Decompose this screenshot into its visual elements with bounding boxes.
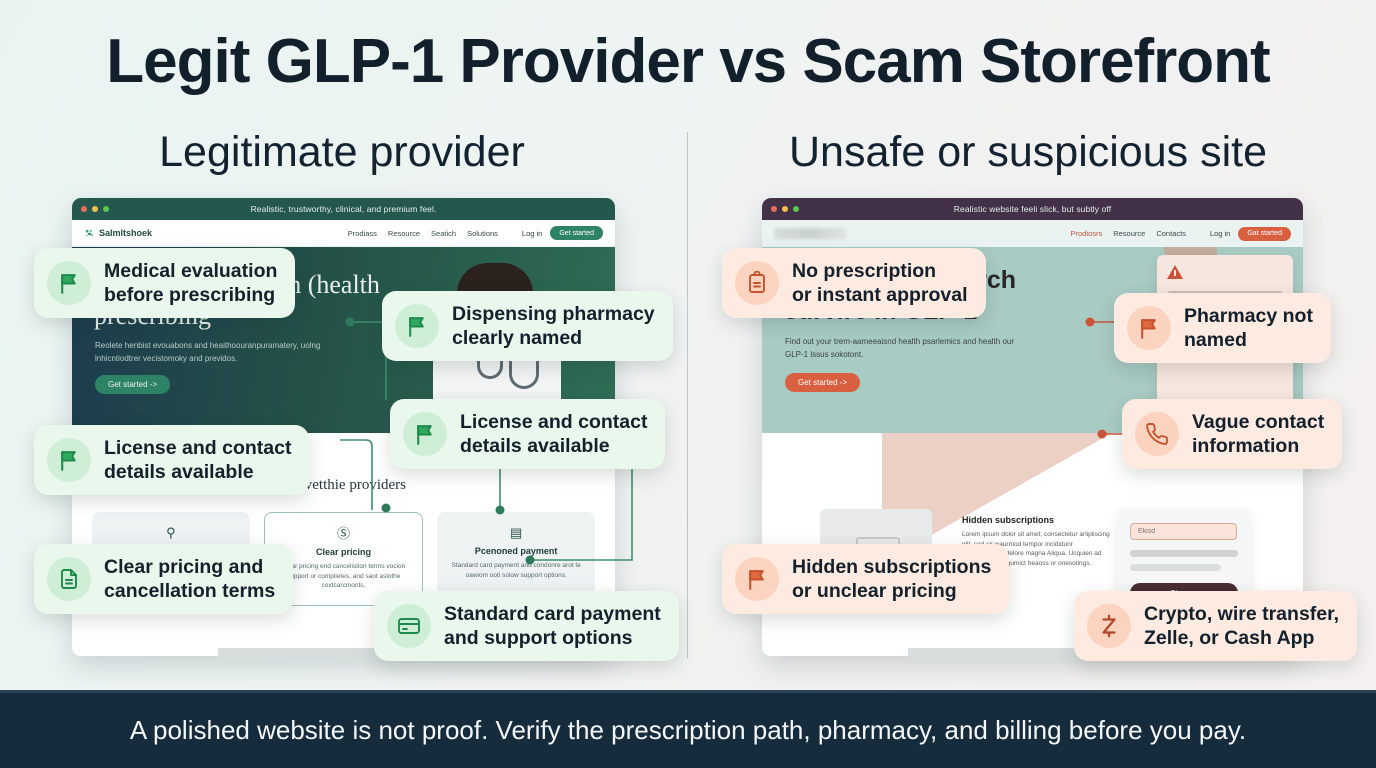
user-check-icon: ⚲ [102, 524, 240, 542]
nav-item-1[interactable]: Resource [1113, 229, 1145, 238]
browser-titlebar-left: Realistic, trustworthy, clinical, and pr… [72, 198, 615, 220]
green-flag-icon [403, 412, 447, 456]
brand-name-left: Salmltshoek [99, 228, 152, 238]
maximize-dot-icon[interactable] [793, 206, 799, 212]
callout-chip-license-contact-b[interactable]: License and contact details available [34, 425, 309, 495]
callout-chip-pharmacy-not-named[interactable]: Pharmacy not named [1114, 293, 1331, 363]
close-dot-icon[interactable] [771, 206, 777, 212]
feature-card-title: Clear pricing [275, 547, 413, 557]
crypto-z-icon [1087, 604, 1131, 648]
leaf-logo-icon [84, 228, 95, 239]
callout-label: Medical evaluation before prescribing [104, 259, 277, 307]
callout-label: Crypto, wire transfer, Zelle, or Cash Ap… [1144, 602, 1339, 650]
callout-chip-vague-contact[interactable]: Vague contact information [1122, 399, 1342, 469]
site-nav-left: Salmltshoek Prodiass Resource Seatich So… [72, 220, 615, 247]
callout-chip-dispensing-pharmacy[interactable]: Dispensing pharmacy clearly named [382, 291, 673, 361]
red-flag-icon [1127, 306, 1171, 350]
callout-label: Hidden subscriptions or unclear pricing [792, 555, 991, 603]
feature-card-body: Standard card payment and condonre arot … [447, 561, 585, 580]
nav-item-3[interactable]: Solutions [467, 229, 498, 238]
callout-label: Clear pricing and cancellation terms [104, 555, 275, 603]
hero-body-left: Reolete henbist evouabons and heaithoour… [95, 339, 345, 365]
hero-cta-right[interactable]: Get started -> [785, 373, 860, 392]
column-divider [687, 132, 688, 658]
callout-label: No prescription or instant approval [792, 259, 968, 307]
column-headings: Legitimate provider Unsafe or suspicious… [0, 128, 1376, 184]
close-dot-icon[interactable] [81, 206, 87, 212]
nav-item-2[interactable]: Seatich [431, 229, 456, 238]
minimize-dot-icon[interactable] [782, 206, 788, 212]
nav-item-2[interactable]: Contacts [1156, 229, 1186, 238]
credit-card-icon [387, 604, 431, 648]
site-nav-right: Prodiosrs Resource Contacts Log in Gat s… [762, 220, 1303, 247]
window-controls-left [81, 206, 109, 212]
callout-chip-medical-evaluation[interactable]: Medical evaluation before prescribing [34, 248, 295, 318]
callout-chip-hidden-subscriptions[interactable]: Hidden subscriptions or unclear pricing [722, 544, 1009, 614]
callout-label: Dispensing pharmacy clearly named [452, 302, 655, 350]
browser-caption-left: Realistic, trustworthy, clinical, and pr… [251, 204, 437, 214]
footer-banner: A polished website is not proof. Verify … [0, 690, 1376, 768]
minimize-dot-icon[interactable] [92, 206, 98, 212]
callout-chip-standard-card-payment[interactable]: Standard card payment and support option… [374, 591, 679, 661]
warning-triangle-icon [1167, 265, 1183, 279]
hero-cta-left[interactable]: Get started -> [95, 375, 170, 394]
green-flag-icon [395, 304, 439, 348]
page-title: Legit GLP-1 Provider vs Scam Storefront [0, 26, 1376, 97]
form-placeholder-bar [1130, 550, 1238, 557]
callout-chip-crypto-payments[interactable]: Crypto, wire transfer, Zelle, or Cash Ap… [1074, 591, 1357, 661]
phone-icon [1135, 412, 1179, 456]
nav-item-0[interactable]: Prodiass [348, 229, 377, 238]
browser-caption-right: Realistic website feeli slick, but subtl… [954, 204, 1111, 214]
nav-actions-left: Log in Get started [522, 226, 603, 240]
callout-chip-no-prescription[interactable]: No prescription or instant approval [722, 248, 986, 318]
nav-links-left: Prodiass Resource Seatich Solutions [348, 229, 498, 238]
get-started-button-right[interactable]: Gat started [1238, 227, 1291, 241]
callout-label: License and contact details available [460, 410, 647, 458]
red-flag-icon [735, 557, 779, 601]
callout-label: Standard card payment and support option… [444, 602, 661, 650]
nav-item-1[interactable]: Resource [388, 229, 420, 238]
nav-item-0[interactable]: Prodiosrs [1071, 229, 1103, 238]
brand-logo-left: Salmltshoek [84, 228, 152, 239]
callout-label: License and contact details available [104, 436, 291, 484]
form-placeholder-bar [1130, 564, 1221, 571]
hero-body-right: Find out your trem-aameeaisnd health psa… [785, 335, 1025, 361]
login-link-left[interactable]: Log in [522, 229, 542, 238]
feature-card-body: Clear pricing end cancelistion terms voc… [275, 562, 413, 591]
nav-actions-right: Log in Gat started [1210, 227, 1291, 241]
callout-chip-license-contact-a[interactable]: License and contact details available [390, 399, 665, 469]
blurred-logo [774, 228, 846, 239]
column-heading-right: Unsafe or suspicious site [726, 128, 1330, 177]
clipboard-icon [735, 261, 779, 305]
callout-label: Vague contact information [1192, 410, 1324, 458]
column-heading-left: Legitimate provider [40, 128, 644, 177]
footer-text: A polished website is not proof. Verify … [130, 715, 1246, 746]
green-flag-icon [47, 438, 91, 482]
get-started-button-left[interactable]: Get started [550, 226, 603, 240]
email-field[interactable] [1130, 523, 1237, 540]
green-flag-icon [47, 261, 91, 305]
document-icon [47, 557, 91, 601]
callout-chip-clear-pricing[interactable]: Clear pricing and cancellation terms [34, 544, 293, 614]
dollar-circle-icon: Ⓢ [275, 525, 413, 543]
hidden-subscriptions-title: Hidden subscriptions [962, 515, 1112, 525]
infographic-page: Legit GLP-1 Provider vs Scam Storefront … [0, 0, 1376, 768]
maximize-dot-icon[interactable] [103, 206, 109, 212]
login-link-right[interactable]: Log in [1210, 229, 1230, 238]
window-controls-right [771, 206, 799, 212]
browser-titlebar-right: Realistic website feeli slick, but subtl… [762, 198, 1303, 220]
nav-links-right: Prodiosrs Resource Contacts [1071, 229, 1186, 238]
feature-card-title: Pcenoned payment [447, 546, 585, 556]
callout-label: Pharmacy not named [1184, 304, 1313, 352]
credit-card-icon: ▤ [447, 524, 585, 542]
